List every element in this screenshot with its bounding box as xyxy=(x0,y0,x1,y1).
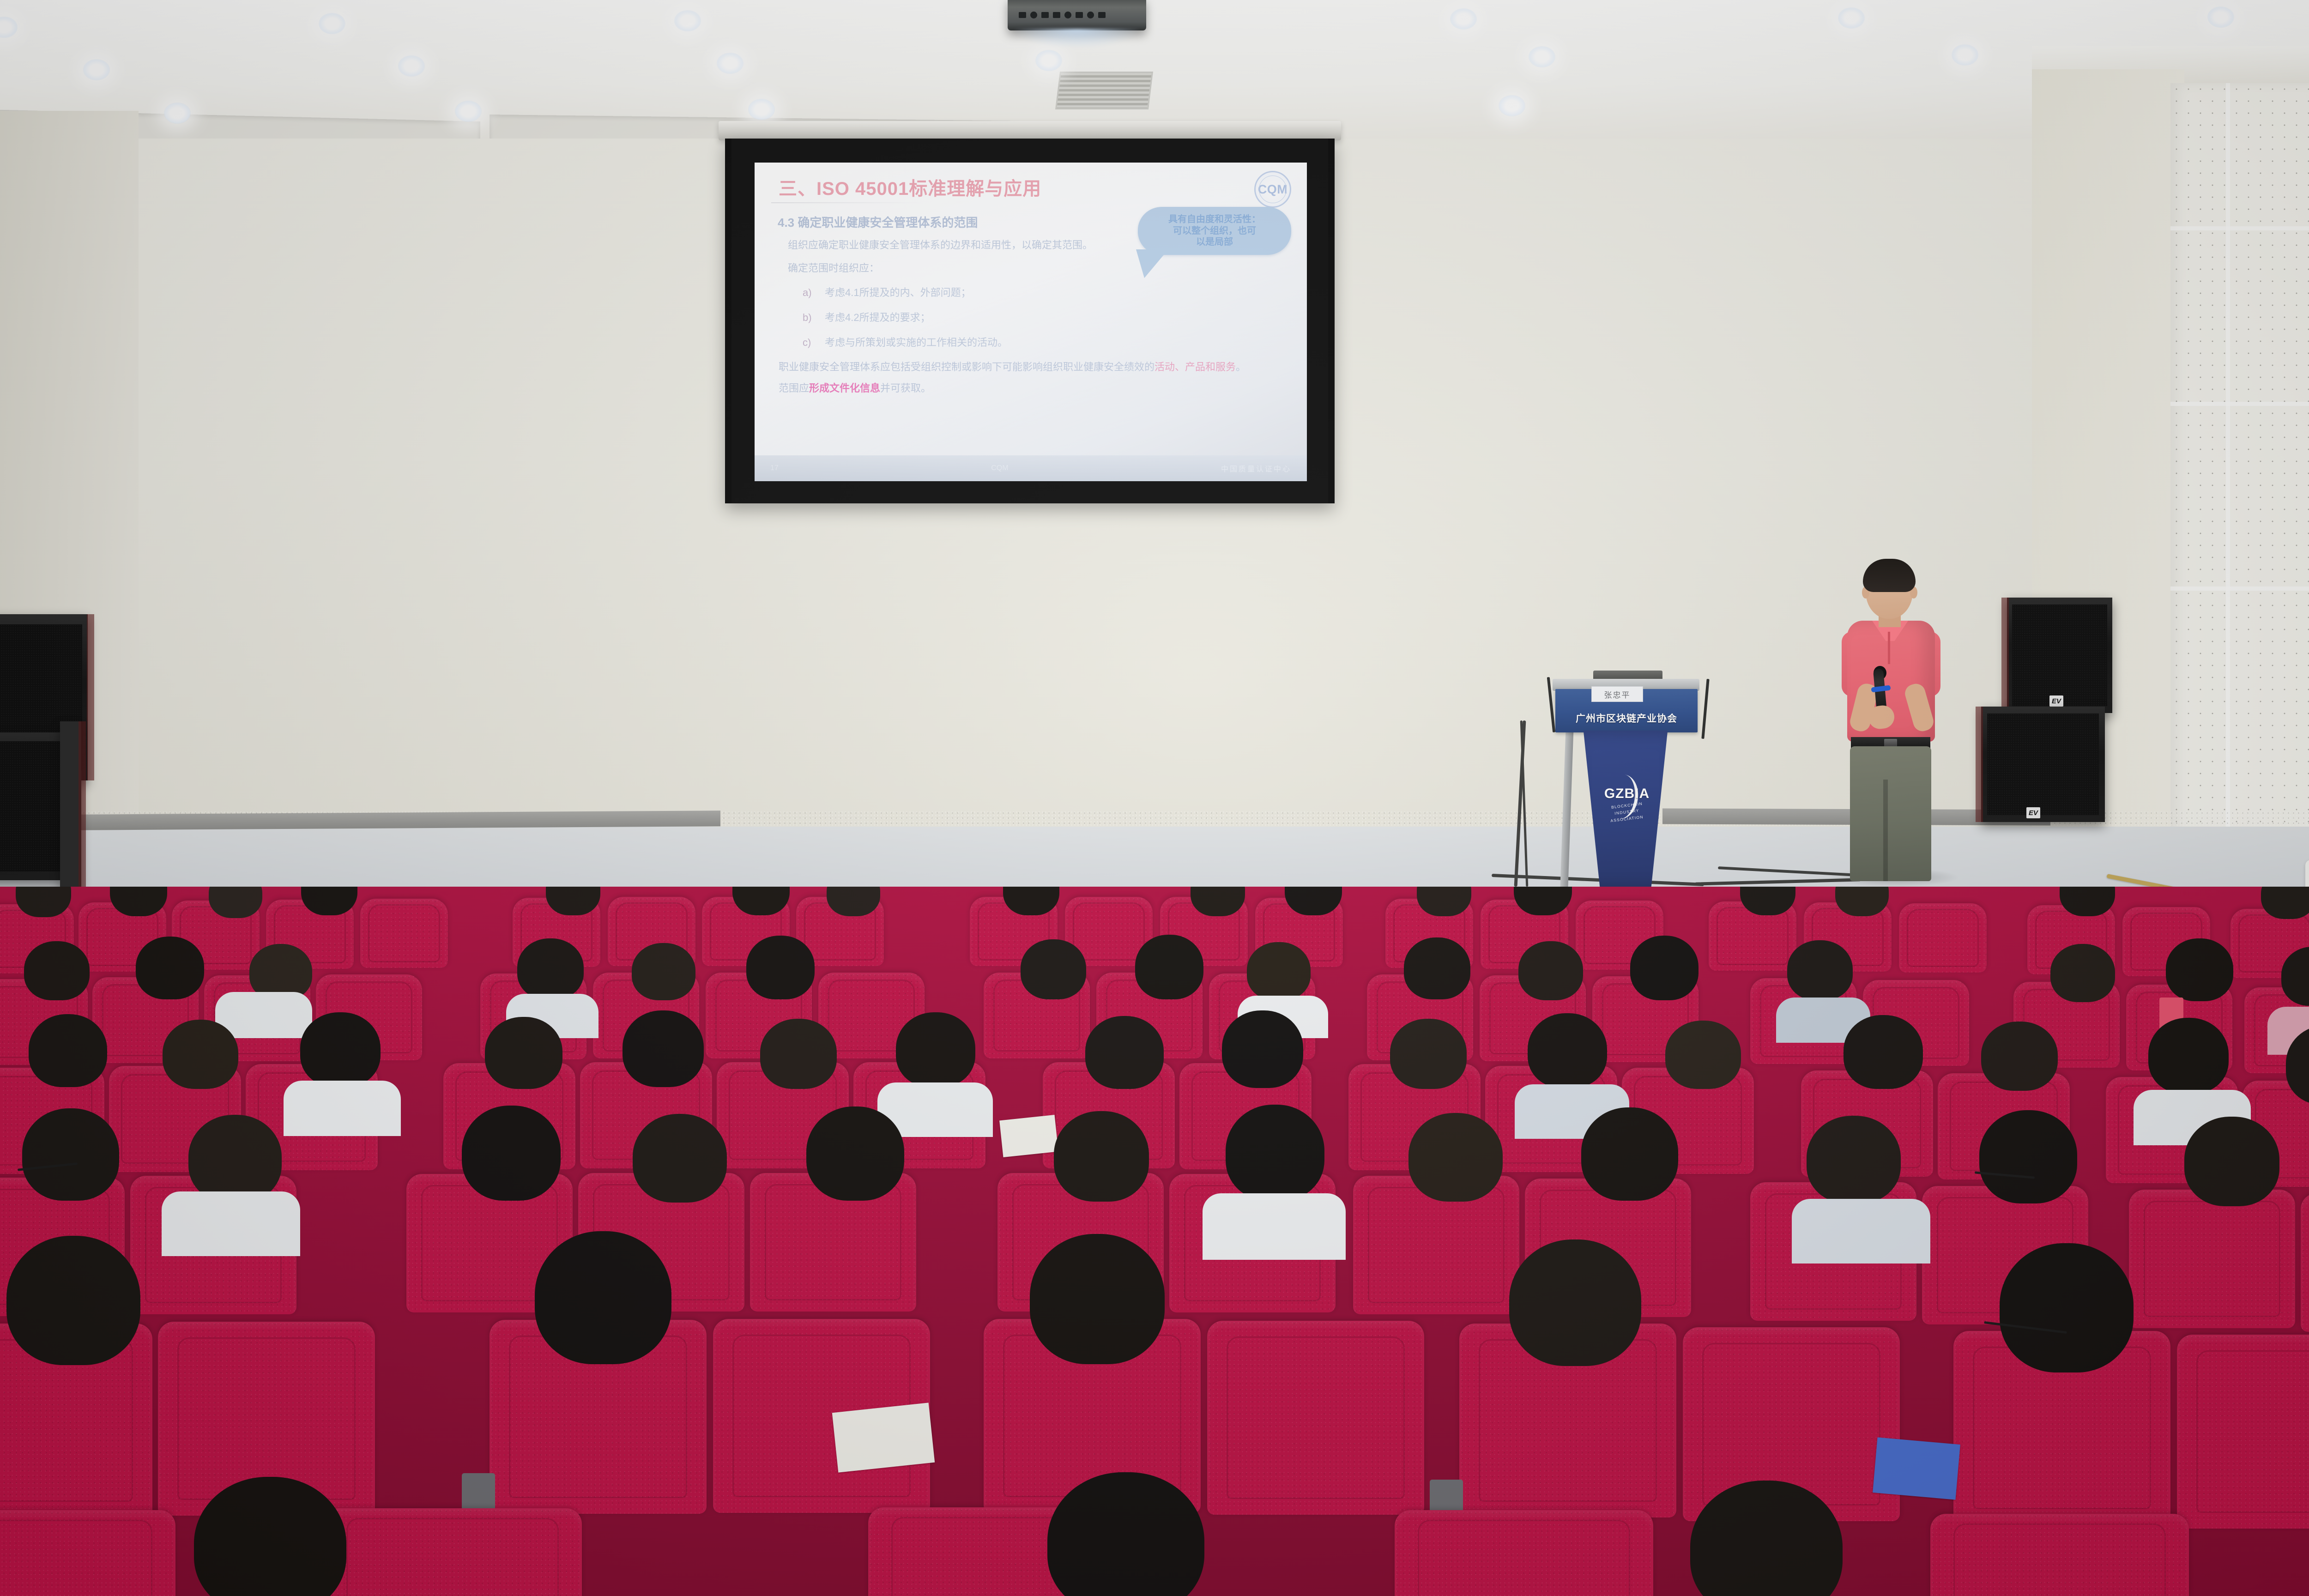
seat[interactable] xyxy=(0,1510,175,1596)
slide-bullet: a)考虑4.1所提及的内、外部问题； xyxy=(803,284,1307,299)
projector xyxy=(1008,0,1146,30)
audience-head xyxy=(194,1477,346,1596)
projector-beam-glow xyxy=(1014,29,1140,48)
p4-part-b: 并可获取。 xyxy=(880,382,931,394)
audience-head xyxy=(2000,1243,2134,1372)
speaker-grill xyxy=(0,741,60,871)
p3-part-a: 职业健康安全管理体系应包括受组织控制或影响下可能影响组织职业健康安全 xyxy=(779,361,1124,373)
speaker-side-panel xyxy=(1976,707,1983,822)
audience-head xyxy=(1509,1239,1641,1366)
slide-paragraph-3: 职业健康安全管理体系应包括受组织控制或影响下可能影响组织职业健康安全绩效的活动、… xyxy=(779,359,1294,375)
audience-head xyxy=(1030,1234,1165,1364)
audience-head xyxy=(22,1108,119,1201)
audience-head xyxy=(188,1115,282,1203)
downlight xyxy=(1035,50,1062,71)
downlight xyxy=(83,59,110,80)
audience-head xyxy=(806,1106,904,1201)
audience-head xyxy=(1054,1111,1149,1202)
downlight xyxy=(455,101,482,122)
audience-head xyxy=(2166,938,2233,1001)
seat[interactable] xyxy=(2177,1335,2309,1529)
audience-head xyxy=(1408,1113,1503,1202)
audience-shoulders xyxy=(284,1081,401,1136)
downlight xyxy=(319,13,345,34)
downlight xyxy=(748,99,775,120)
audience-head xyxy=(623,1010,704,1087)
speaker-grill xyxy=(1987,713,2098,815)
p3-highlight: 活动、产品和服务 xyxy=(1154,361,1236,373)
downlight xyxy=(398,55,425,77)
port-icon xyxy=(1041,12,1049,18)
audience-head xyxy=(1787,940,1853,1000)
p4-highlight: 形成文件化信息 xyxy=(809,382,880,394)
audience-head xyxy=(1981,1022,2058,1091)
slide-footer-right: 中国质量认证中心 xyxy=(1221,463,1291,474)
bullet-text: 考虑与所策划或实施的工作相关的活动。 xyxy=(825,337,1008,348)
seat[interactable] xyxy=(2129,1190,2295,1328)
audience-head xyxy=(1021,939,1086,999)
bullet-marker: c) xyxy=(803,337,825,349)
slide-body: 4.3 确定职业健康安全管理体系的范围 组织应确定职业健康安全管理体系的边界和适… xyxy=(755,213,1307,402)
bullet-marker: b) xyxy=(803,312,825,324)
slide-paragraph-2: 确定范围时组织应： xyxy=(788,262,1307,275)
audience-head xyxy=(1581,1107,1678,1201)
cqm-logo-icon: CQM xyxy=(1254,171,1291,208)
slide-bullet: b)考虑4.2所提及的要求； xyxy=(803,309,1307,324)
audience-head xyxy=(1404,937,1470,999)
audience-head xyxy=(746,936,815,999)
pa-speaker-right-top: EV xyxy=(2007,598,2112,713)
presenter xyxy=(1838,562,1944,881)
port-icon xyxy=(1064,12,1071,18)
p3-part-c: 。 xyxy=(1236,361,1246,373)
speaker-side-panel xyxy=(79,721,86,888)
pa-speaker-left-sub xyxy=(60,721,81,888)
audience-head xyxy=(633,1114,727,1203)
ev-logo-icon: EV xyxy=(2049,695,2063,707)
audience-notes[interactable] xyxy=(999,1115,1058,1157)
audience-head xyxy=(2050,944,2115,1002)
slide-page-number: 17 xyxy=(770,464,779,472)
screen-housing xyxy=(719,121,1341,140)
seat[interactable] xyxy=(1207,1321,1424,1515)
pa-speaker-right-bottom: EV xyxy=(1981,707,2105,822)
audience-head xyxy=(1085,1016,1164,1089)
audience-head xyxy=(1047,1472,1204,1596)
speaker-name-card: 张忠平 xyxy=(1591,686,1643,702)
bullet-marker: a) xyxy=(803,287,825,299)
audience-seating xyxy=(0,887,2309,1596)
audience-head xyxy=(24,941,90,1000)
downlight xyxy=(1529,46,1555,67)
downlight xyxy=(717,53,743,74)
speaker-side-panel xyxy=(2001,598,2009,713)
port-icon xyxy=(1098,12,1106,18)
seat[interactable] xyxy=(1899,903,1987,973)
auditorium-scene: 三、ISO 45001标准理解与应用 CQM 具有自由度和灵活性： 可以整个组织… xyxy=(0,0,2309,1596)
audience-head xyxy=(6,1236,140,1365)
audience-head xyxy=(485,1017,562,1089)
seat[interactable] xyxy=(360,899,448,968)
audience-head xyxy=(1222,1010,1303,1088)
audience-head xyxy=(163,1020,238,1089)
podium-org-name: 广州市区块链产业协会 xyxy=(1555,711,1698,725)
audience-head xyxy=(1979,1110,2077,1203)
audience-shoulders xyxy=(1792,1199,1930,1263)
audience-head xyxy=(1807,1116,1901,1203)
speaker-side-panel xyxy=(87,614,94,780)
audience-head xyxy=(462,1106,561,1201)
audience-head xyxy=(1247,942,1311,1000)
presentation-slide: 三、ISO 45001标准理解与应用 CQM 具有自由度和灵活性： 可以整个组织… xyxy=(755,163,1307,481)
seat[interactable] xyxy=(1395,1510,1653,1596)
audience-head xyxy=(632,943,695,1000)
audience-head xyxy=(896,1012,975,1087)
port-icon xyxy=(1019,12,1026,18)
audience-head xyxy=(300,1012,381,1087)
p3-part-b: 绩效的 xyxy=(1124,361,1154,373)
audience-head xyxy=(1630,936,1699,1000)
audience-head xyxy=(29,1014,107,1087)
audience-head xyxy=(1665,1021,1741,1089)
presenter-trousers xyxy=(1850,746,1931,881)
seat[interactable] xyxy=(1930,1514,2189,1596)
podium: 广州市区块链产业协会 张忠平 GZBIA BLOCKCHAIN INDUSTRY… xyxy=(1533,660,1718,891)
slide-footer: 17 CQM 中国质量认证中心 xyxy=(755,455,1307,481)
downlight xyxy=(674,10,701,31)
audience-head xyxy=(760,1019,837,1089)
audience-head xyxy=(1844,1015,1923,1089)
downlight xyxy=(1499,95,1525,116)
audience-notes[interactable] xyxy=(832,1403,935,1472)
ev-logo-icon: EV xyxy=(2026,807,2040,818)
audience-head xyxy=(517,938,584,999)
slide-title: 三、ISO 45001标准理解与应用 xyxy=(779,174,1041,200)
audience-head xyxy=(1528,1013,1607,1088)
port-icon xyxy=(1087,12,1094,18)
presenter-leg-seam xyxy=(1883,780,1888,881)
slide-paragraph-4: 范围应形成文件化信息并可获取。 xyxy=(779,381,1294,396)
presenter-hair xyxy=(1863,559,1916,592)
slide-footer-center: CQM xyxy=(991,464,1008,472)
pa-speaker-left-bottom xyxy=(0,732,65,880)
downlight xyxy=(2207,6,2234,28)
bullet-text: 考虑4.2所提及的要求； xyxy=(825,312,931,323)
presenter-placket xyxy=(1888,632,1890,664)
audience-head xyxy=(1518,941,1583,1000)
port-icon xyxy=(1030,12,1037,18)
audience-shoulders xyxy=(162,1191,300,1256)
downlight xyxy=(1838,7,1865,29)
audience-head xyxy=(1226,1105,1324,1201)
audience-head xyxy=(1390,1019,1467,1089)
seat[interactable] xyxy=(323,1508,582,1596)
downlight xyxy=(1450,8,1477,30)
projection-screen: 三、ISO 45001标准理解与应用 CQM 具有自由度和灵活性： 可以整个组织… xyxy=(755,163,1307,481)
air-vent xyxy=(1055,72,1153,109)
audience-head xyxy=(2184,1117,2279,1206)
panel-seam xyxy=(2170,586,2309,591)
audience-head xyxy=(1135,935,1203,999)
downlight xyxy=(1952,44,1978,66)
port-icon xyxy=(1076,12,1083,18)
seat[interactable] xyxy=(2301,1193,2309,1332)
p4-part-a: 范围应 xyxy=(779,382,809,394)
audience-head xyxy=(136,937,204,999)
bullet-text: 考虑4.1所提及的内、外部问题； xyxy=(825,287,971,298)
slide-section-heading: 4.3 确定职业健康安全管理体系的范围 xyxy=(778,213,1307,230)
panel-seam xyxy=(2170,402,2309,406)
downlight xyxy=(164,103,191,124)
audience-shoulders xyxy=(1203,1193,1346,1260)
projector-ports xyxy=(1019,9,1134,20)
speaker-grill xyxy=(2012,605,2107,706)
slide-bullet: c)考虑与所策划或实施的工作相关的活动。 xyxy=(803,334,1307,349)
slide-title-rule xyxy=(771,202,924,203)
port-icon xyxy=(1053,12,1060,18)
audience-head xyxy=(535,1231,671,1364)
audience-notes[interactable] xyxy=(1873,1437,1960,1499)
slide-paragraph-1: 组织应确定职业健康安全管理体系的边界和适用性，以确定其范围。 xyxy=(788,239,1307,252)
panel-seam xyxy=(2170,226,2309,230)
audience-head xyxy=(2148,1018,2229,1094)
logo-ring xyxy=(1259,175,1287,203)
